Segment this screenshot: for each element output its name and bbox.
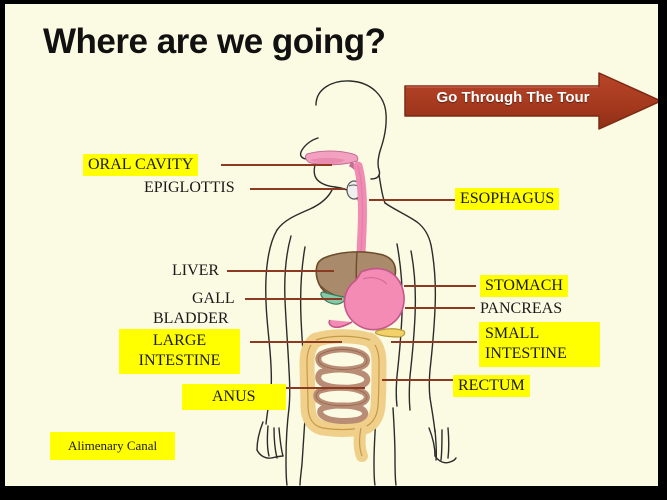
leader-line-esophagus <box>369 199 455 201</box>
leader-line-oral-cavity <box>221 164 332 166</box>
leader-line-large-intestine <box>250 341 342 343</box>
leader-line-rectum <box>382 379 456 381</box>
label-oral-cavity[interactable]: ORAL CAVITY <box>83 154 198 176</box>
pancreas-organ <box>376 329 405 337</box>
label-small-intestine-line2: INTESTINE <box>485 344 594 364</box>
label-bladder[interactable]: BLADDER <box>148 308 234 330</box>
leader-line-pancreas <box>405 307 475 309</box>
label-small-intestine[interactable]: SMALL INTESTINE <box>479 322 600 367</box>
label-esophagus[interactable]: ESOPHAGUS <box>455 188 559 210</box>
label-pancreas[interactable]: PANCREAS <box>475 298 567 320</box>
leader-line-stomach <box>404 285 476 287</box>
small-intestine-outline <box>316 349 367 405</box>
slide-canvas: Where are we going? <box>5 4 658 486</box>
footer-note-alimenary-canal[interactable]: Alimenary Canal <box>50 432 175 460</box>
label-liver[interactable]: LIVER <box>167 260 224 282</box>
leader-line-gall-bladder <box>245 298 342 300</box>
label-stomach[interactable]: STOMACH <box>480 275 568 297</box>
label-large-intestine[interactable]: LARGE INTESTINE <box>119 329 240 374</box>
go-through-the-tour-button[interactable]: Go Through The Tour <box>403 71 658 131</box>
leader-line-epiglottis <box>250 188 345 190</box>
label-anus[interactable]: ANUS <box>182 384 286 410</box>
go-through-the-tour-label: Go Through The Tour <box>423 89 603 106</box>
leader-line-liver <box>227 270 334 272</box>
label-small-intestine-line1: SMALL <box>485 324 594 344</box>
slide-root: Where are we going? <box>0 0 667 500</box>
label-large-intestine-line2: INTESTINE <box>125 351 234 371</box>
oral-cavity-organ <box>306 151 358 165</box>
small-intestine-organ <box>316 349 367 421</box>
label-gall[interactable]: GALL <box>187 288 240 310</box>
label-epiglottis[interactable]: EPIGLOTTIS <box>139 177 240 199</box>
leader-line-small-intestine <box>391 341 477 343</box>
label-large-intestine-line1: LARGE <box>125 331 234 351</box>
label-rectum[interactable]: RECTUM <box>453 375 530 397</box>
